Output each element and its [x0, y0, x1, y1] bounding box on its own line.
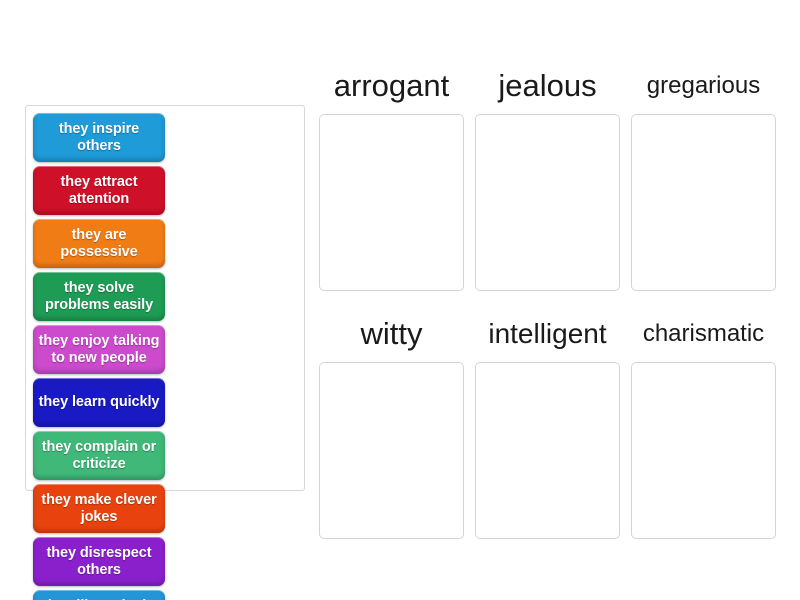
- answer-tile[interactable]: they enjoy talking to new people: [33, 325, 165, 374]
- drop-zone-intelligent[interactable]: [475, 362, 620, 539]
- drop-zone-gregarious[interactable]: [631, 114, 776, 291]
- category-label: charismatic: [631, 306, 776, 362]
- answer-tile[interactable]: they inspire others: [33, 113, 165, 162]
- category-arrogant: arrogant: [319, 58, 464, 291]
- activity-stage: they inspire othersthey attract attentio…: [0, 0, 800, 600]
- category-label: witty: [319, 306, 464, 362]
- answer-tile[interactable]: they disrespect others: [33, 537, 165, 586]
- category-label: jealous: [475, 58, 620, 114]
- category-label: intelligent: [475, 306, 620, 362]
- answer-tile[interactable]: they like to be in large groups: [33, 590, 165, 600]
- drop-zone-charismatic[interactable]: [631, 362, 776, 539]
- drop-zone-witty[interactable]: [319, 362, 464, 539]
- category-witty: witty: [319, 306, 464, 539]
- answer-tile[interactable]: they make clever jokes: [33, 484, 165, 533]
- category-gregarious: gregarious: [631, 58, 776, 291]
- answer-tile[interactable]: they complain or criticize: [33, 431, 165, 480]
- answer-tile-tray[interactable]: they inspire othersthey attract attentio…: [25, 105, 305, 491]
- answer-tile[interactable]: they are possessive: [33, 219, 165, 268]
- category-jealous: jealous: [475, 58, 620, 291]
- answer-tile[interactable]: they solve problems easily: [33, 272, 165, 321]
- category-label: arrogant: [319, 58, 464, 114]
- drop-zone-jealous[interactable]: [475, 114, 620, 291]
- category-label: gregarious: [631, 58, 776, 114]
- category-intelligent: intelligent: [475, 306, 620, 539]
- drop-zone-arrogant[interactable]: [319, 114, 464, 291]
- category-grid: arrogant jealous gregarious witty intell…: [319, 58, 775, 548]
- category-charismatic: charismatic: [631, 306, 776, 539]
- answer-tile[interactable]: they learn quickly: [33, 378, 165, 427]
- answer-tile[interactable]: they attract attention: [33, 166, 165, 215]
